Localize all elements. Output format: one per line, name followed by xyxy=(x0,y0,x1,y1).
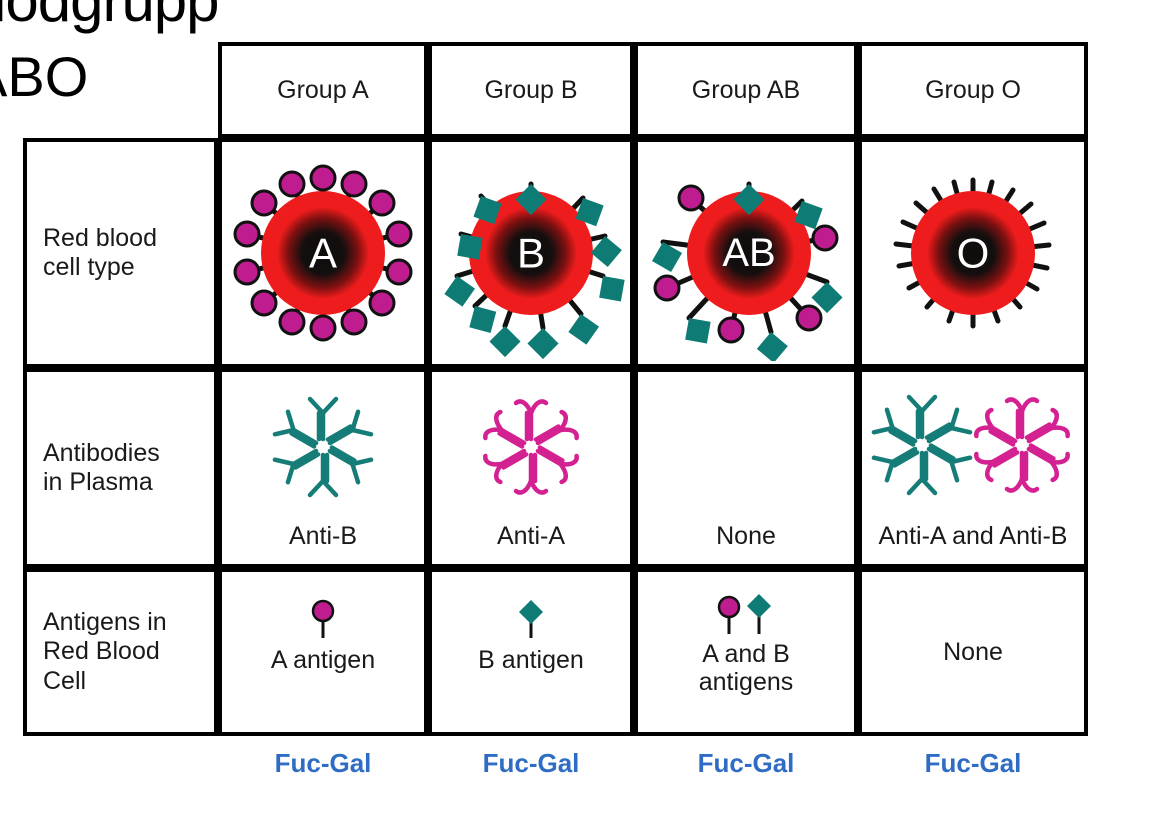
column-header-label: Group AB xyxy=(692,76,800,105)
cell-antigens-group-ab: A and B antigens xyxy=(634,568,858,736)
antibody-cluster-none xyxy=(638,372,854,522)
antigen-marker-b xyxy=(432,572,630,642)
fuc-gal-label-group-ab: Fuc-Gal xyxy=(634,748,858,779)
antigen-svg-b xyxy=(511,598,551,642)
antibody-cluster-anti-a-and-anti-b xyxy=(862,372,1084,522)
antibody-cluster-anti-a xyxy=(432,372,630,522)
antibody-svg-anti-b xyxy=(248,387,398,507)
antigen-marker-a-and-b xyxy=(638,572,854,638)
cell-caption: A antigen xyxy=(222,642,424,674)
cell-antigens-group-a: A antigen xyxy=(218,568,428,736)
cell-caption: None xyxy=(862,638,1084,666)
cell-antibodies-group-ab: None xyxy=(634,368,858,568)
rbc-illustration-o: O xyxy=(862,142,1084,364)
cell-antigens-group-b: B antigen xyxy=(428,568,634,736)
rbc-illustration-b: B xyxy=(432,142,630,364)
rbc-svg-b: B xyxy=(433,146,629,361)
rbc-letter: A xyxy=(309,229,337,276)
column-header-label: Group O xyxy=(925,76,1021,105)
rbc-illustration-ab: AB xyxy=(638,142,854,364)
column-header-group-b: Group B xyxy=(428,42,634,138)
antigen-marker-a xyxy=(222,572,424,642)
rbc-letter: O xyxy=(957,229,990,276)
cell-caption: B antigen xyxy=(432,642,630,674)
rbc-letter: AB xyxy=(722,231,775,275)
cell-caption: Anti-A and Anti-B xyxy=(862,522,1084,564)
cell-antibodies-group-a: Anti-B xyxy=(218,368,428,568)
fuc-gal-row: Fuc-Gal Fuc-Gal Fuc-Gal Fuc-Gal xyxy=(23,748,1088,808)
antigen-svg-a-and-b xyxy=(707,594,785,638)
fuc-gal-label-group-b: Fuc-Gal xyxy=(428,748,634,779)
cell-caption: Anti-A xyxy=(432,522,630,564)
column-header-label: Group A xyxy=(277,76,369,105)
rbc-svg-ab: AB xyxy=(639,146,853,361)
rbc-illustration-a: A xyxy=(222,142,424,364)
cell-antibodies-group-b: Anti-A xyxy=(428,368,634,568)
row-label-red-blood-cell-type: Red blood cell type xyxy=(23,138,218,368)
blood-group-table: Group A Group B Group AB Group O Red blo… xyxy=(23,42,1088,736)
row-label-antibodies-in-plasma: Antibodies in Plasma xyxy=(23,368,218,568)
antibody-svg-anti-a-anti-b xyxy=(866,387,1080,507)
cell-caption: Anti-B xyxy=(222,522,424,564)
cell-antigens-group-o: None xyxy=(858,568,1088,736)
cell-rbc-group-ab: AB xyxy=(634,138,858,368)
column-header-label: Group B xyxy=(484,76,577,105)
rbc-letter: B xyxy=(517,229,545,276)
row-label-antigens-in-red-blood-cell: Antigens in Red Blood Cell xyxy=(23,568,218,736)
row-label-text: Antigens in Red Blood Cell xyxy=(43,608,167,697)
antibody-cluster-anti-b xyxy=(222,372,424,522)
cell-antibodies-group-o: Anti-A and Anti-B xyxy=(858,368,1088,568)
column-header-group-ab: Group AB xyxy=(634,42,858,138)
cell-caption: A and B antigens xyxy=(638,638,854,696)
rbc-svg-o: O xyxy=(863,146,1083,361)
fuc-gal-label-group-a: Fuc-Gal xyxy=(218,748,428,779)
row-label-text: Red blood cell type xyxy=(43,224,157,283)
cell-rbc-group-a: A xyxy=(218,138,428,368)
cell-rbc-group-b: B xyxy=(428,138,634,368)
cell-rbc-group-o: O xyxy=(858,138,1088,368)
rbc-svg-a: A xyxy=(223,146,423,361)
column-header-group-a: Group A xyxy=(218,42,428,138)
column-header-group-o: Group O xyxy=(858,42,1088,138)
antibody-svg-anti-a xyxy=(456,387,606,507)
row-label-text: Antibodies in Plasma xyxy=(43,439,160,498)
fuc-gal-label-group-o: Fuc-Gal xyxy=(858,748,1088,779)
antigen-svg-a xyxy=(303,598,343,642)
page-title-clipped: Blodgrupp xyxy=(0,0,219,35)
cell-caption: None xyxy=(638,522,854,564)
